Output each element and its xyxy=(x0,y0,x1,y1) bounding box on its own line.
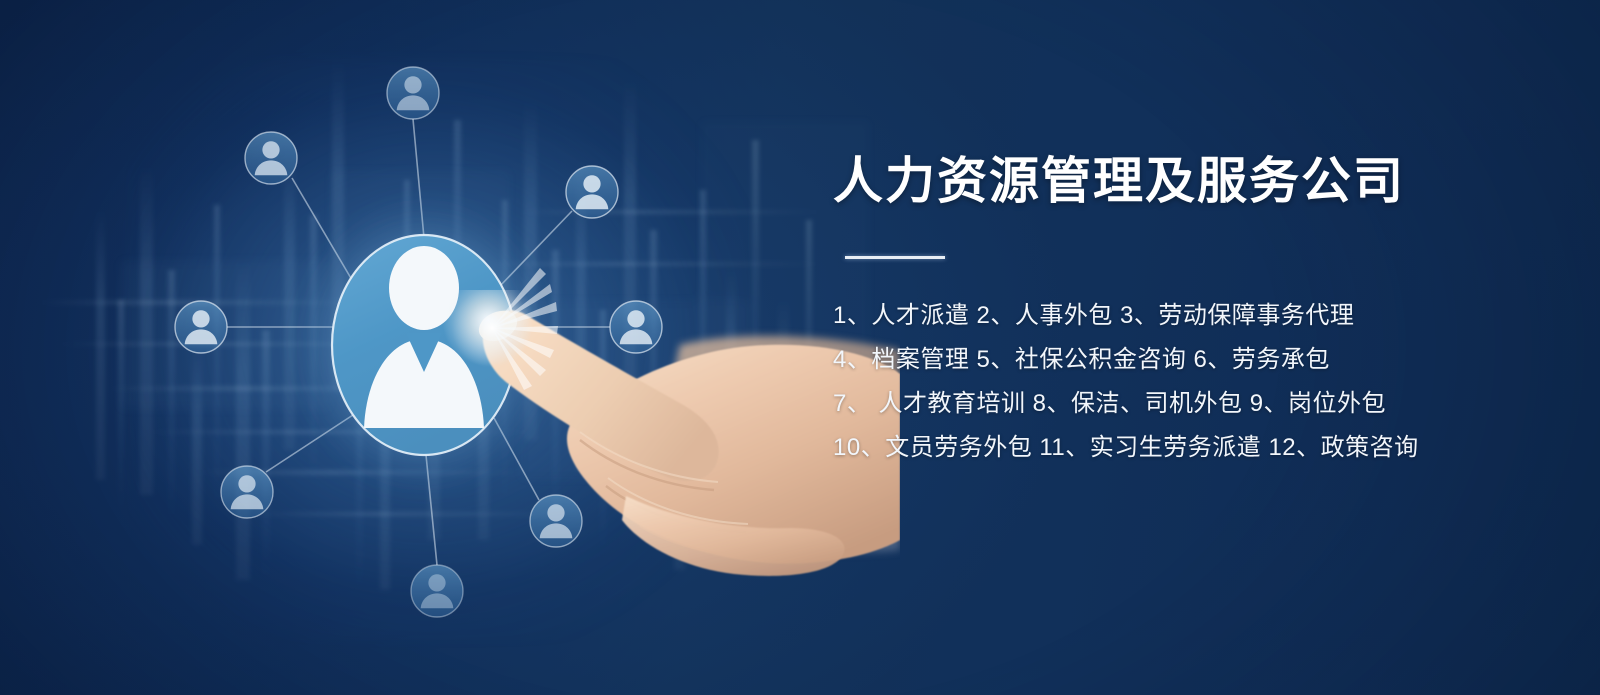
node-upper-left xyxy=(245,132,297,184)
title-divider xyxy=(845,256,945,259)
banner-text-block: 人力资源管理及服务公司 1、人才派遣 2、人事外包 3、劳动保障事务代理 4、档… xyxy=(833,150,1533,470)
page-title: 人力资源管理及服务公司 xyxy=(833,150,1533,213)
service-item: 7、 人才教育培训 8、保洁、司机外包 9、岗位外包 xyxy=(833,382,1533,426)
hr-services-banner: 人力资源管理及服务公司 1、人才派遣 2、人事外包 3、劳动保障事务代理 4、档… xyxy=(0,0,1600,695)
service-list: 1、人才派遣 2、人事外包 3、劳动保障事务代理 4、档案管理 5、社保公积金咨… xyxy=(833,294,1533,471)
node-lower-left xyxy=(221,466,273,518)
node-upper-right xyxy=(566,166,618,218)
sparkle-burst xyxy=(400,240,590,430)
service-item: 10、文员劳务外包 11、实习生劳务派遣 12、政策咨询 xyxy=(833,426,1533,470)
node-left xyxy=(175,301,227,353)
service-item: 1、人才派遣 2、人事外包 3、劳动保障事务代理 xyxy=(833,294,1533,338)
node-top xyxy=(387,67,439,119)
service-item: 4、档案管理 5、社保公积金咨询 6、劳务承包 xyxy=(833,338,1533,382)
